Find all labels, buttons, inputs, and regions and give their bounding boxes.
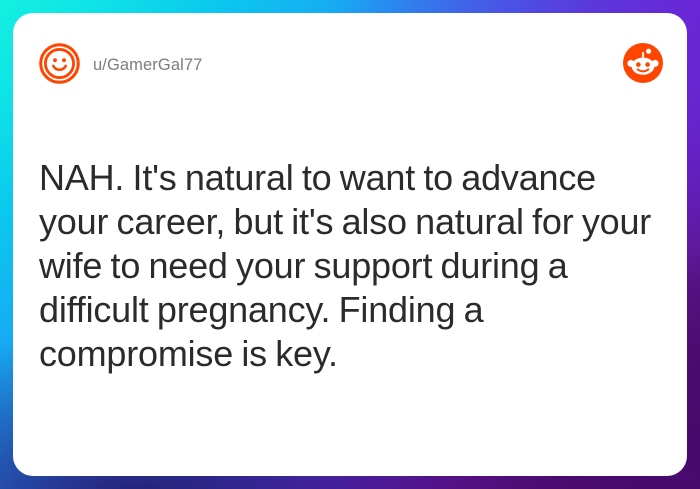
username-label: u/GamerGal77 [93,56,202,75]
screenshot-canvas: u/GamerGal77 [0,0,700,489]
reddit-comment-card: u/GamerGal77 [13,13,687,476]
card-header: u/GamerGal77 [13,13,687,99]
post-body-text: NAH. It's natural to want to advance you… [39,156,667,376]
avatar[interactable] [38,42,81,85]
reddit-snoo-icon[interactable] [623,43,663,83]
